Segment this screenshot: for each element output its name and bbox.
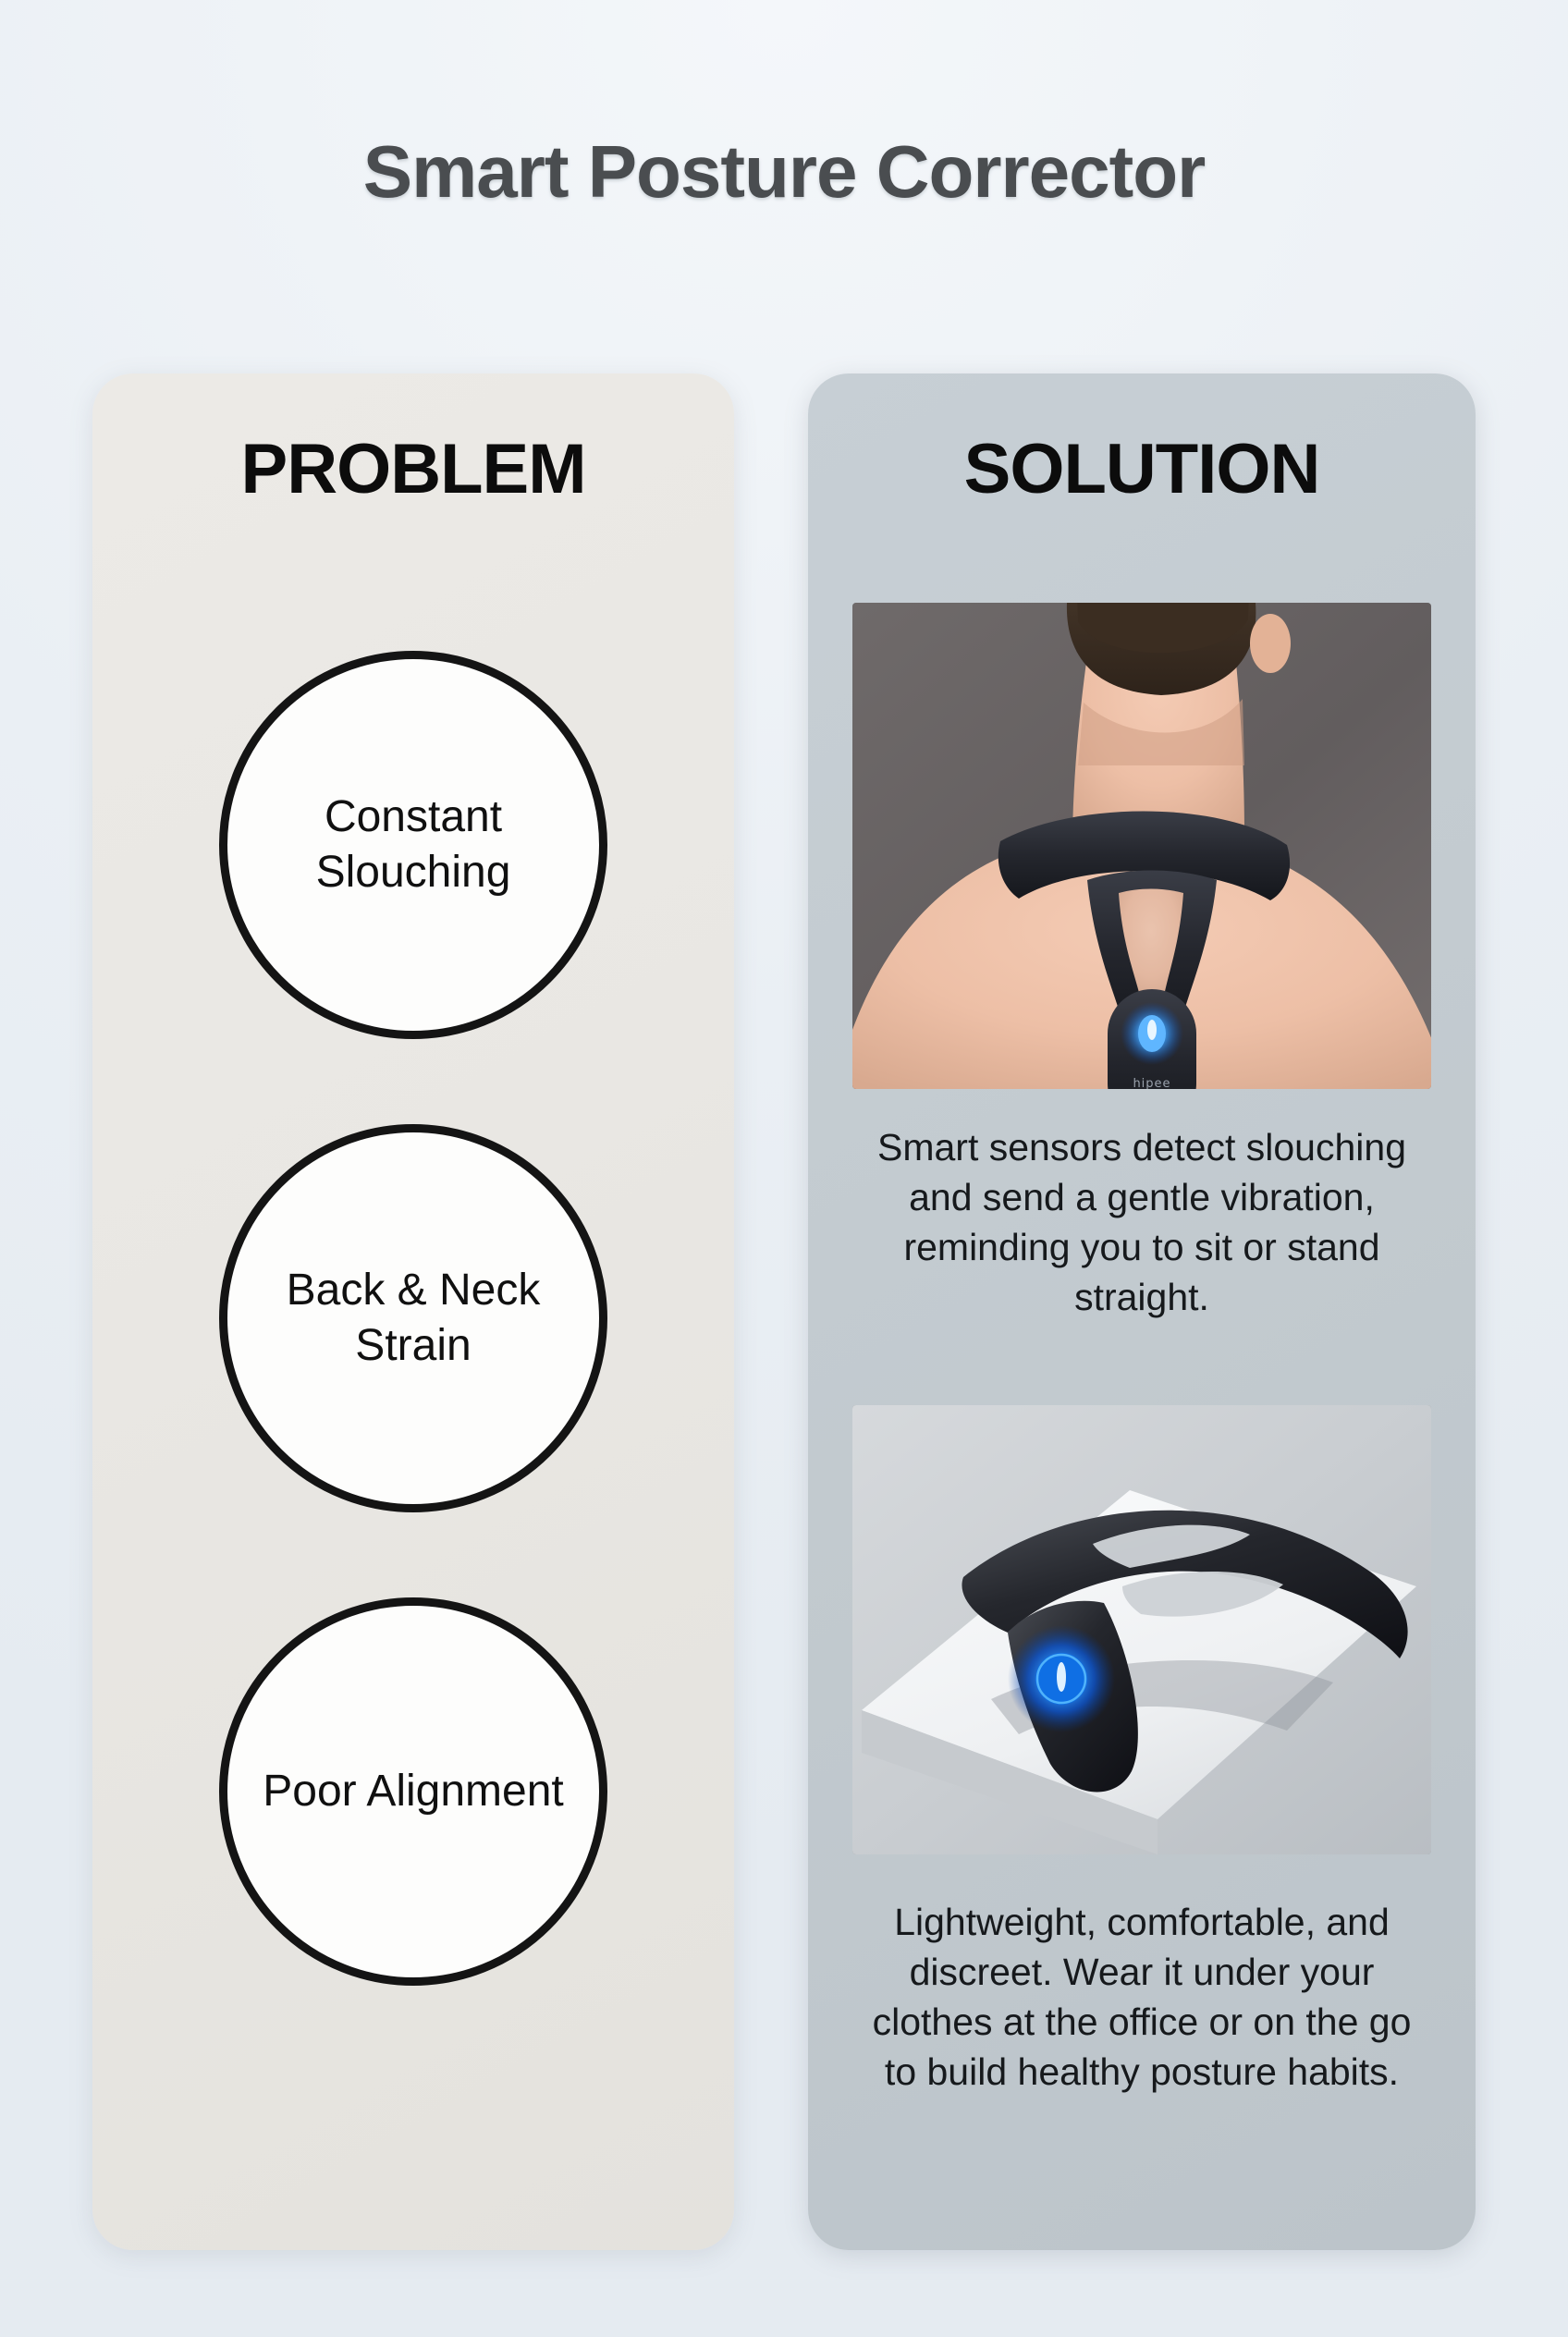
solution-card: SOLUTION — [808, 373, 1476, 2250]
problem-heading: PROBLEM — [92, 429, 734, 509]
page-title: Smart Posture Corrector — [0, 129, 1568, 214]
photo-worn-illustration: hipee — [852, 603, 1431, 1089]
photo-product-illustration — [852, 1405, 1431, 1854]
solution-image-product — [852, 1405, 1431, 1854]
problem-card: PROBLEM Constant Slouching Back & Neck S… — [92, 373, 734, 2250]
infographic-root: Smart Posture Corrector PROBLEM Constant… — [0, 0, 1568, 2337]
problem-item-label: Constant Slouching — [259, 789, 568, 899]
svg-text:hipee: hipee — [1133, 1077, 1170, 1089]
problem-item-1[interactable]: Back & Neck Strain — [219, 1124, 607, 1512]
problem-item-2[interactable]: Poor Alignment — [219, 1597, 607, 1986]
problem-item-label: Poor Alignment — [263, 1764, 564, 1819]
problem-item-label: Back & Neck Strain — [259, 1263, 568, 1373]
solution-caption-0: Smart sensors detect slouching and send … — [855, 1122, 1428, 1322]
solution-heading: SOLUTION — [808, 429, 1476, 509]
solution-image-worn: hipee — [852, 603, 1431, 1089]
solution-caption-1: Lightweight, comfortable, and discreet. … — [855, 1897, 1428, 2097]
problem-item-0[interactable]: Constant Slouching — [219, 651, 607, 1039]
